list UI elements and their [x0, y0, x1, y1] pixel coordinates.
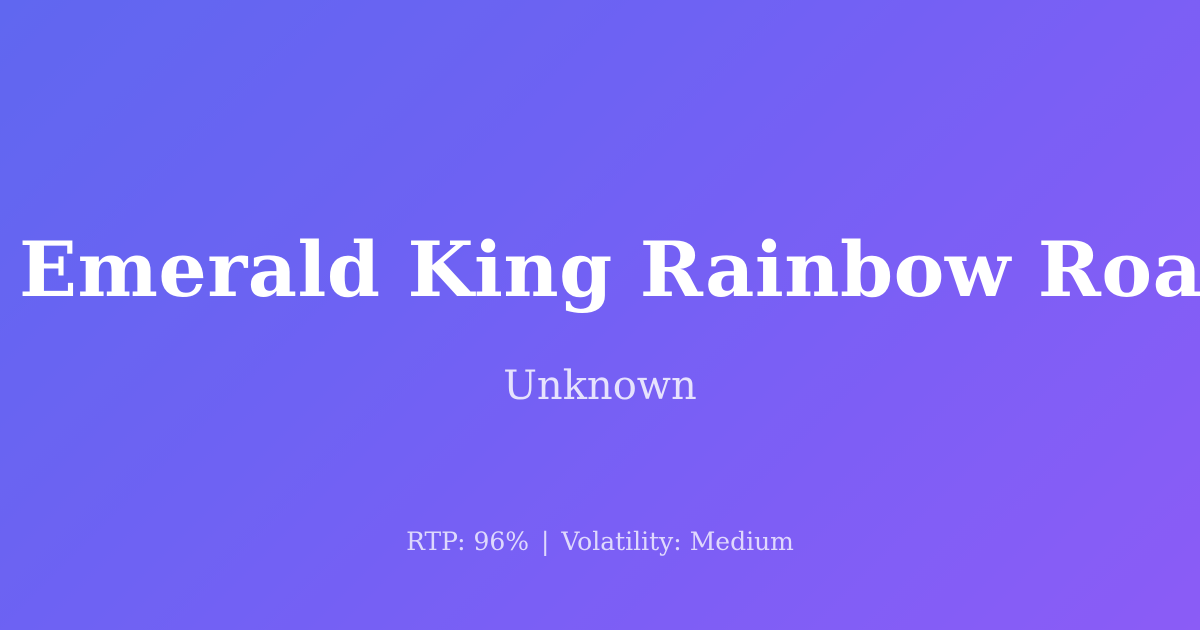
volatility-label: Volatility: — [561, 527, 681, 556]
rtp-label: RTP: — [406, 527, 465, 556]
game-meta-line: RTP: 96% | Volatility: Medium — [0, 529, 1200, 554]
title-row: 1F B0 Emerald King Rainbow Road — [0, 232, 1200, 308]
og-share-card: 1F B0 Emerald King Rainbow Road Unknown … — [0, 0, 1200, 630]
volatility-value: Medium — [690, 527, 794, 556]
meta-separator: | — [537, 527, 553, 556]
rtp-value: 96% — [473, 527, 529, 556]
page-subtitle: Unknown — [0, 366, 1200, 406]
page-title: Emerald King Rainbow Road — [19, 232, 1200, 308]
